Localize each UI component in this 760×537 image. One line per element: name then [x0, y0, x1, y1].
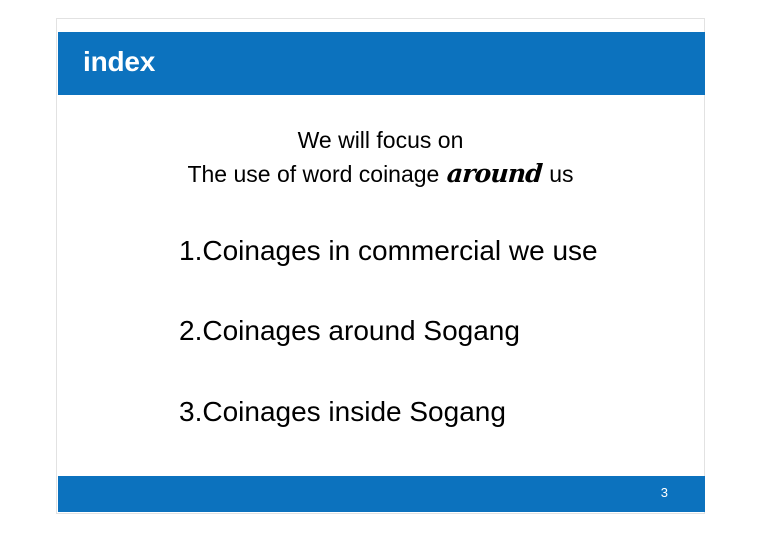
lead-line-1: We will focus on [57, 124, 704, 157]
slide: index We will focus on The use of word c… [56, 18, 705, 514]
page-number: 3 [661, 485, 668, 501]
list-item: 2.Coinages around Sogang [179, 314, 520, 348]
slide-body: We will focus on The use of word coinage… [57, 95, 704, 479]
lead-line-2-after: us [549, 161, 573, 187]
lead-line-2: The use of word coinage around us [57, 157, 704, 191]
lead-line-2-before: The use of word coinage [187, 161, 439, 187]
list-item: 3.Coinages inside Sogang [179, 395, 506, 429]
page-title: index [83, 45, 155, 79]
slide-header-bar: index [58, 32, 705, 95]
slide-footer-bar: 3 [58, 476, 705, 512]
lead-line-2-emphasis: around [445, 157, 544, 190]
list-item: 1.Coinages in commercial we use [179, 234, 598, 268]
